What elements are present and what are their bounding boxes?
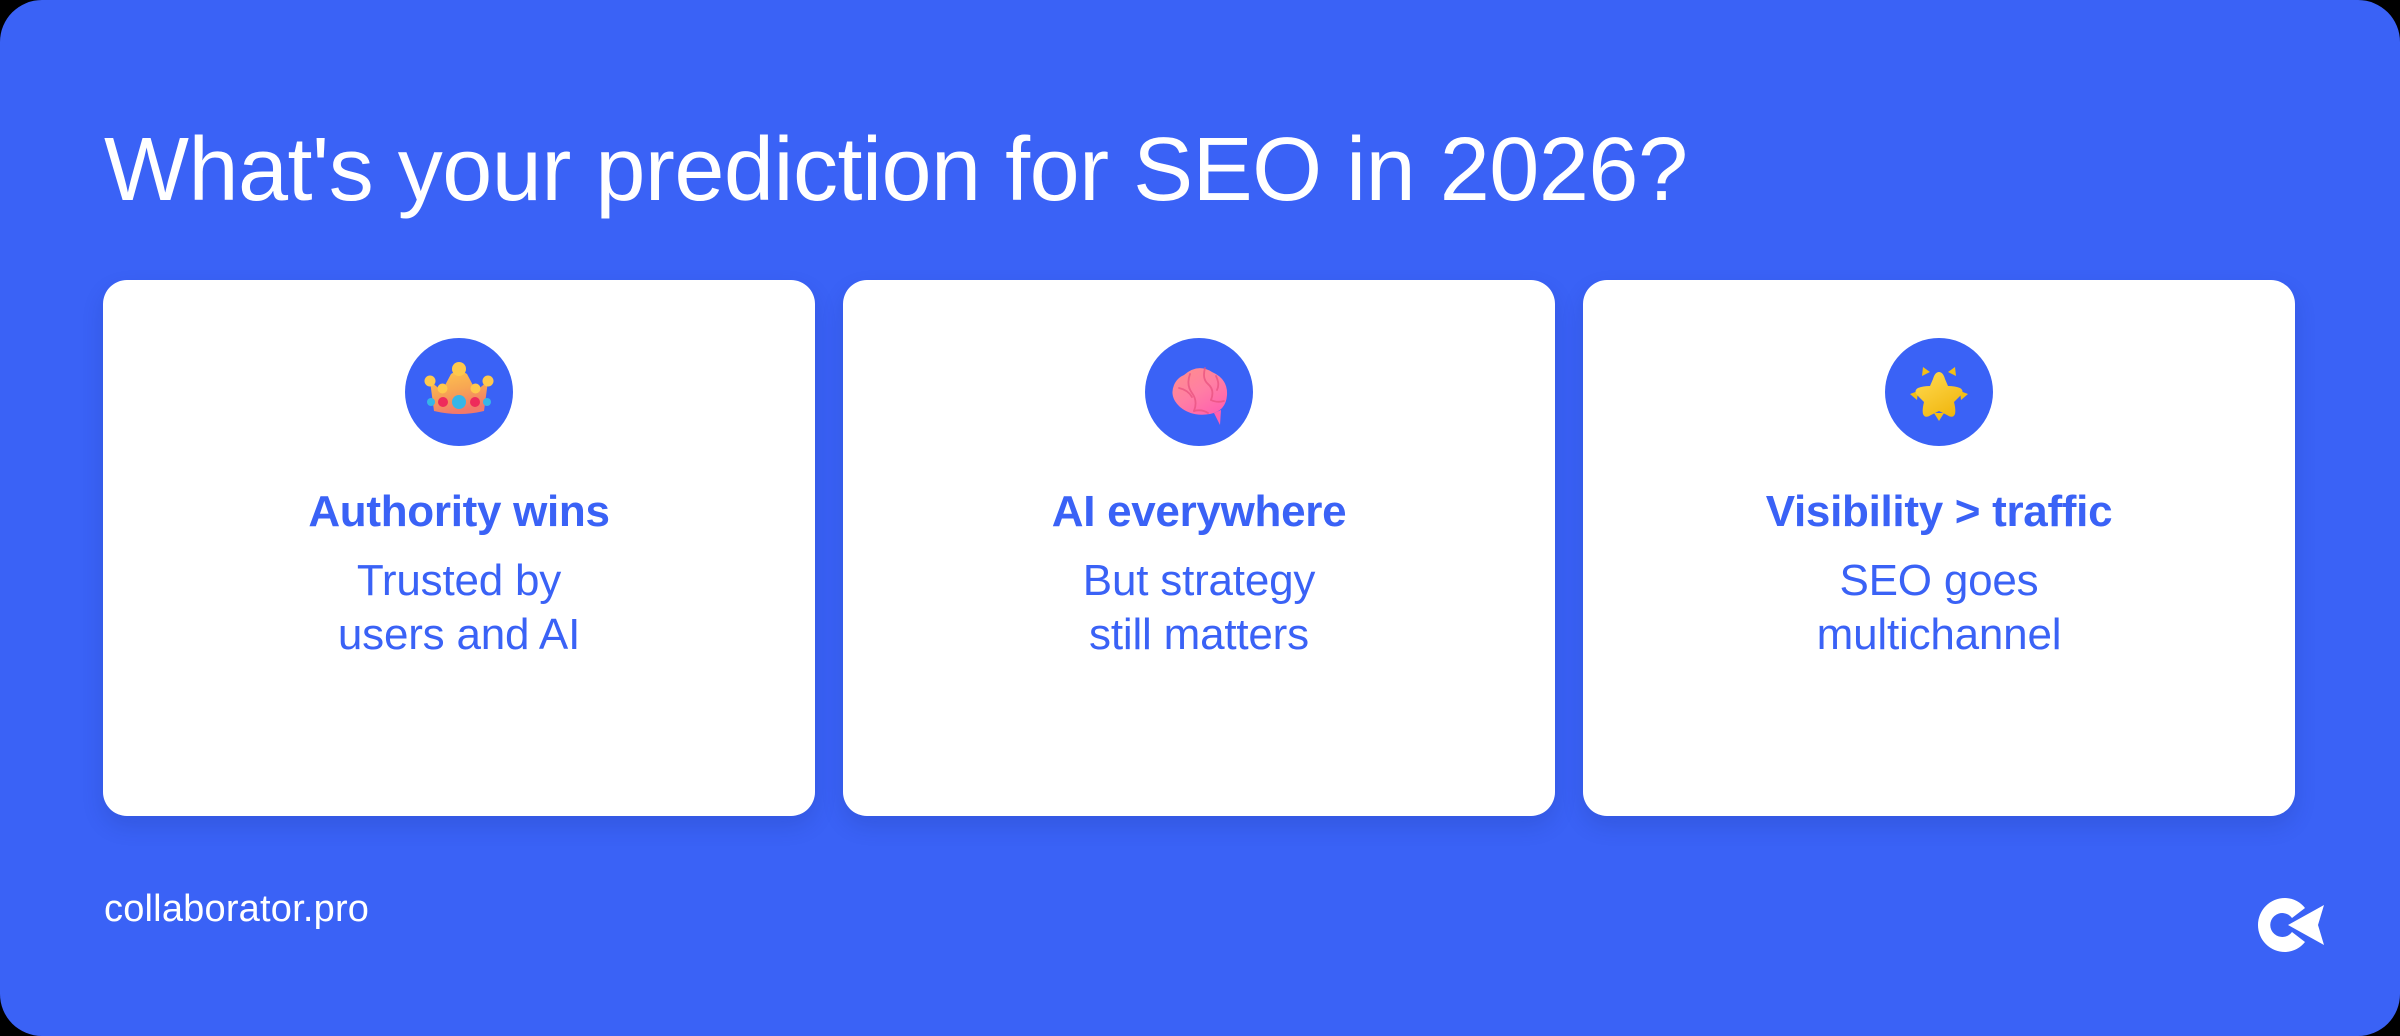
- card-heading: AI everywhere: [1052, 488, 1347, 536]
- collaborator-logo-icon: [2252, 894, 2328, 956]
- card-body: SEO goes multichannel: [1817, 554, 2062, 661]
- prediction-card: Authority wins Trusted by users and AI: [103, 280, 815, 816]
- crown-icon: [405, 338, 513, 446]
- page-title: What's your prediction for SEO in 2026?: [104, 122, 2204, 219]
- card-body: Trusted by users and AI: [338, 554, 580, 661]
- card-heading: Visibility > traffic: [1766, 488, 2113, 536]
- poster-canvas: What's your prediction for SEO in 2026?: [0, 0, 2400, 1036]
- prediction-card-list: Authority wins Trusted by users and AI: [103, 280, 2295, 816]
- prediction-card: Visibility > traffic SEO goes multichann…: [1583, 280, 2295, 816]
- brain-icon: [1145, 338, 1253, 446]
- footer-domain: collaborator.pro: [104, 888, 369, 931]
- card-body: But strategy still matters: [1083, 554, 1315, 661]
- card-heading: Authority wins: [308, 488, 609, 536]
- prediction-card: AI everywhere But strategy still matters: [843, 280, 1555, 816]
- glowing-star-icon: [1885, 338, 1993, 446]
